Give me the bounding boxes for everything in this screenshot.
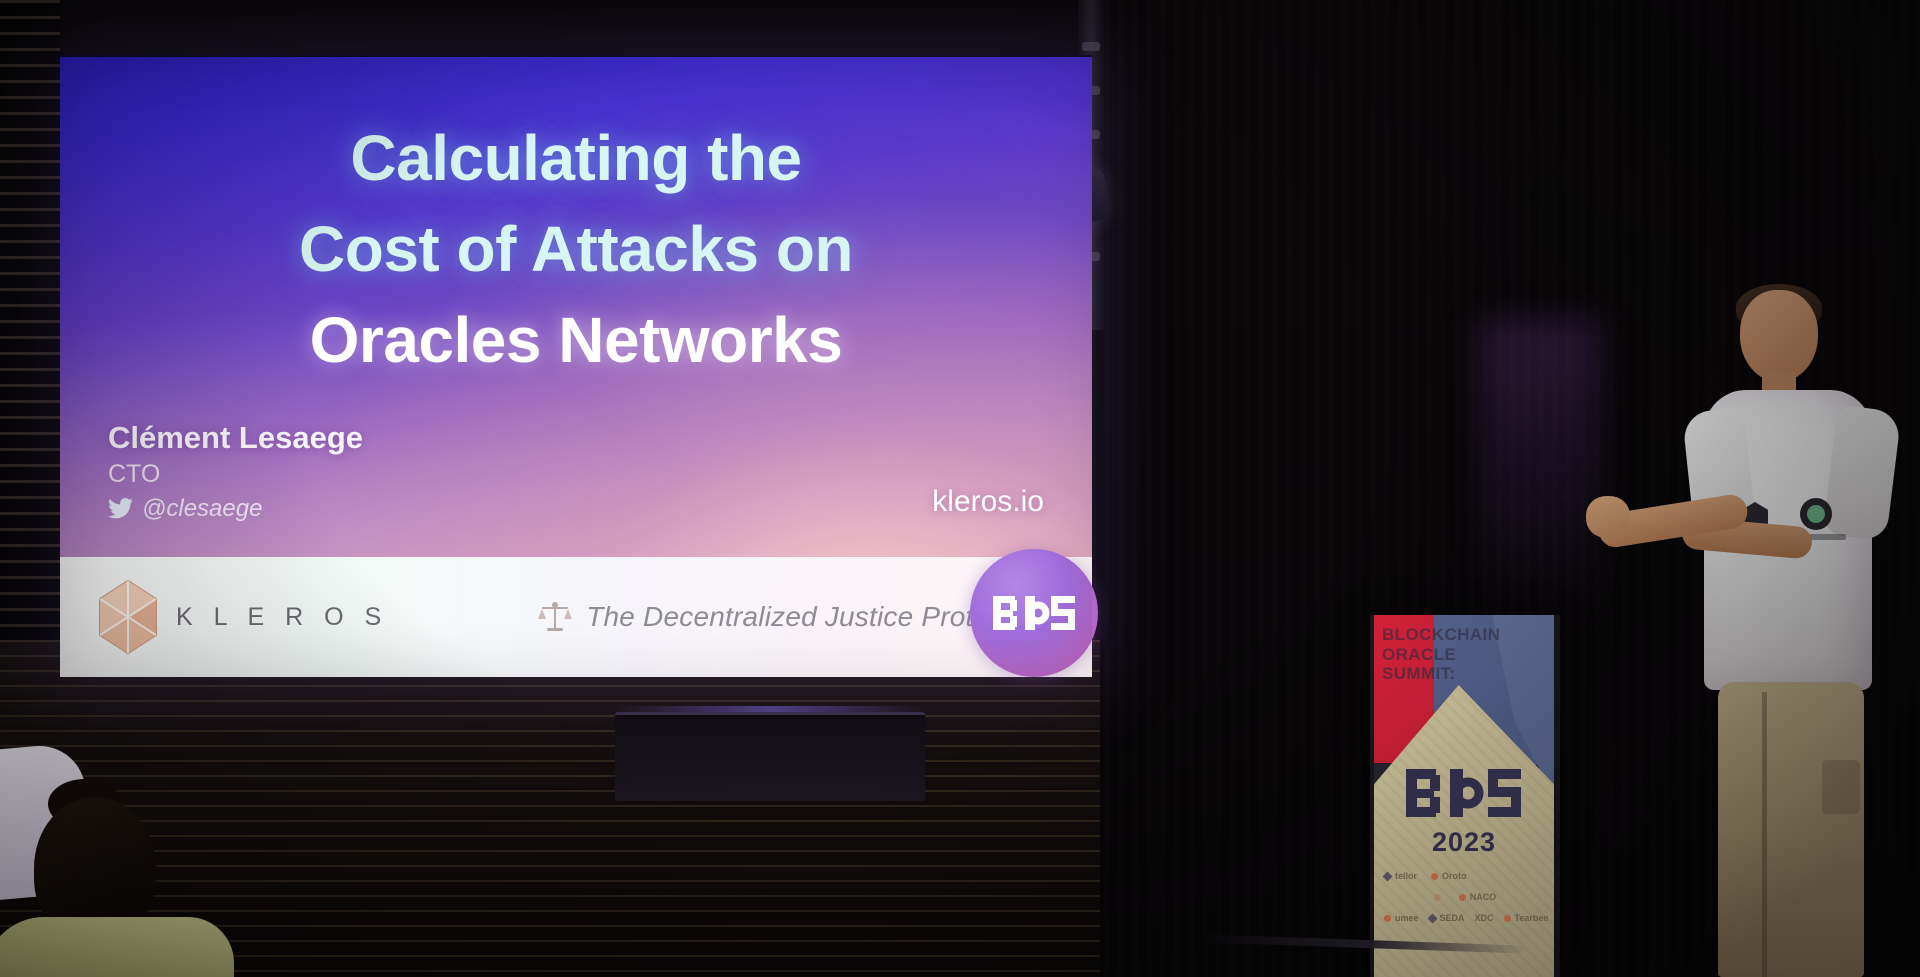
slide-title-line-2: Cost of Attacks on [120,204,1032,295]
speaker-handle-row: @clesaege [108,495,363,523]
podium: BLOCKCHAIN ORACLE SUMMIT: [1370,615,1560,977]
banner-bos-logo [1374,765,1554,826]
kleros-wordmark: K L E R O S [176,603,388,632]
presenter-trousers [1718,682,1864,977]
sponsor-name: umee [1395,913,1419,923]
speaker-info-block: Clément Lesaege CTO @clesaege [108,420,363,523]
presenter-hand [1586,496,1630,538]
dot-icon [1504,915,1511,922]
sponsor-item [1434,894,1445,901]
sponsor-name: tellor [1395,871,1417,881]
banner-headline: BLOCKCHAIN ORACLE SUMMIT: [1382,625,1532,684]
audience-shoulders [0,917,234,977]
bos-badge [970,549,1098,677]
presenter-leg-seam [1762,692,1767,977]
sponsor-item: Oroto [1431,871,1467,881]
speaker-handle: @clesaege [142,495,262,523]
audience-member [0,747,200,977]
banner-sponsor-list: tellor Oroto NACO [1384,871,1546,923]
presenter [1690,290,1890,977]
faint-logo-icon [1434,894,1441,901]
circle-icon [1431,873,1438,880]
circle-icon [1384,915,1391,922]
presenter-head [1740,290,1818,382]
kleros-polyhedron-icon [96,579,160,655]
sponsor-name: XDC [1475,913,1494,923]
sponsor-item: umee [1384,913,1419,923]
sponsor-row: NACO [1384,892,1546,902]
slide-footer-bar: K L E R O S The Decentralized Justice Pr… [60,557,1092,677]
slide-title: Calculating the Cost of Attacks on Oracl… [60,113,1092,386]
banner-year: 2023 [1374,827,1554,858]
speaker-role: CTO [108,460,363,489]
sponsor-item: NACO [1459,892,1497,902]
slide-title-line-3: Oracles Networks [120,295,1032,386]
sponsor-row: umee SEDA XDC Tearbee [1384,913,1546,923]
circle-badge-icon [1800,498,1832,530]
bos-logo-icon [1404,765,1524,821]
presenter-cargo-pocket [1822,760,1860,814]
speaker-name: Clément Lesaege [108,420,363,457]
stage-photo: Calculating the Cost of Attacks on Oracl… [0,0,1920,977]
sponsor-item: Tearbee [1504,913,1549,923]
twitter-bird-icon [108,498,133,519]
sponsor-item: SEDA [1429,913,1465,923]
sponsor-name: NACO [1470,892,1497,902]
kleros-tagline: The Decentralized Justice Protocol [586,601,1025,633]
podium-banner: BLOCKCHAIN ORACLE SUMMIT: [1374,615,1554,977]
sponsor-item: XDC [1475,913,1494,923]
bos-logo-icon [991,592,1077,634]
balance-scales-icon [538,600,572,634]
sponsor-row: tellor Oroto [1384,871,1546,881]
dot-icon [1459,894,1466,901]
slide-url: kleros.io [932,485,1044,519]
sponsor-item: tellor [1384,871,1417,881]
presentation-slide: Calculating the Cost of Attacks on Oracl… [60,55,1092,677]
sponsor-name: SEDA [1440,913,1465,923]
sponsor-name: Tearbee [1515,913,1549,923]
projection-screen: Calculating the Cost of Attacks on Oracl… [60,55,1092,677]
asterisk-icon [1383,871,1393,881]
kleros-logo: K L E R O S [96,579,388,655]
sponsor-name: Oroto [1442,871,1467,881]
diamond-icon [1427,913,1437,923]
slide-title-line-1: Calculating the [120,113,1032,204]
stage-floor-monitor [615,712,925,801]
truss-bolt [1082,42,1100,51]
